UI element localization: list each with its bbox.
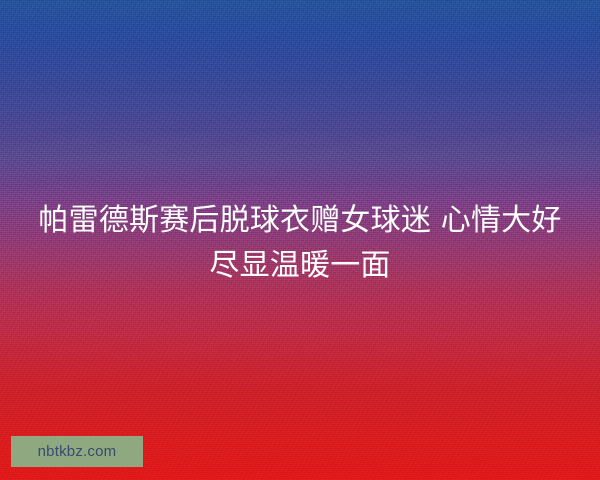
headline-text: 帕雷德斯赛后脱球衣赠女球迷 心情大好 尽显温暖一面 <box>0 198 600 288</box>
headline-line-1: 帕雷德斯赛后脱球衣赠女球迷 心情大好 <box>18 198 582 243</box>
headline-line-2: 尽显温暖一面 <box>18 243 582 288</box>
watermark-label: nbtkbz.com <box>38 444 117 459</box>
watermark-badge: nbtkbz.com <box>11 436 143 467</box>
banner-image: 帕雷德斯赛后脱球衣赠女球迷 心情大好 尽显温暖一面 nbtkbz.com <box>0 0 600 480</box>
